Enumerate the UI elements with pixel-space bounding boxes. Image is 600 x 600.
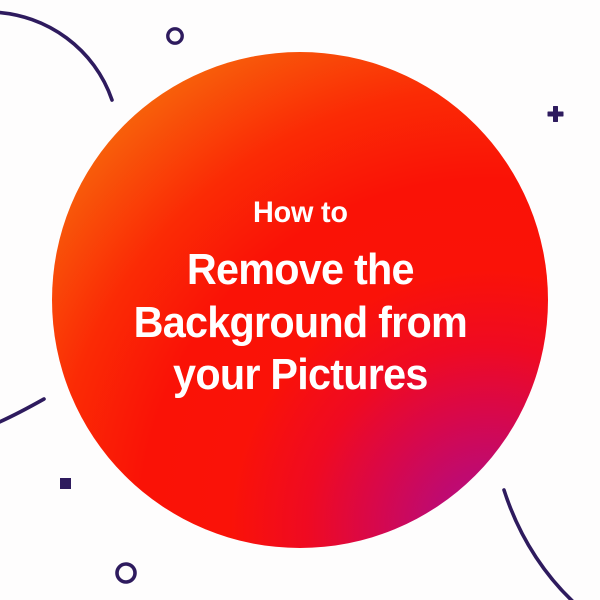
ring-bottom-icon	[117, 564, 135, 582]
arc-top-left-icon	[0, 12, 112, 100]
ring-top-icon	[168, 29, 182, 43]
arc-left-icon	[0, 399, 44, 426]
poster-canvas: How to Remove the Background from your P…	[0, 0, 600, 600]
arc-bottom-right-icon	[504, 490, 580, 600]
plus-right-icon	[548, 106, 564, 122]
square-bottom-left-icon	[60, 478, 71, 489]
gradient-circle	[52, 52, 548, 548]
